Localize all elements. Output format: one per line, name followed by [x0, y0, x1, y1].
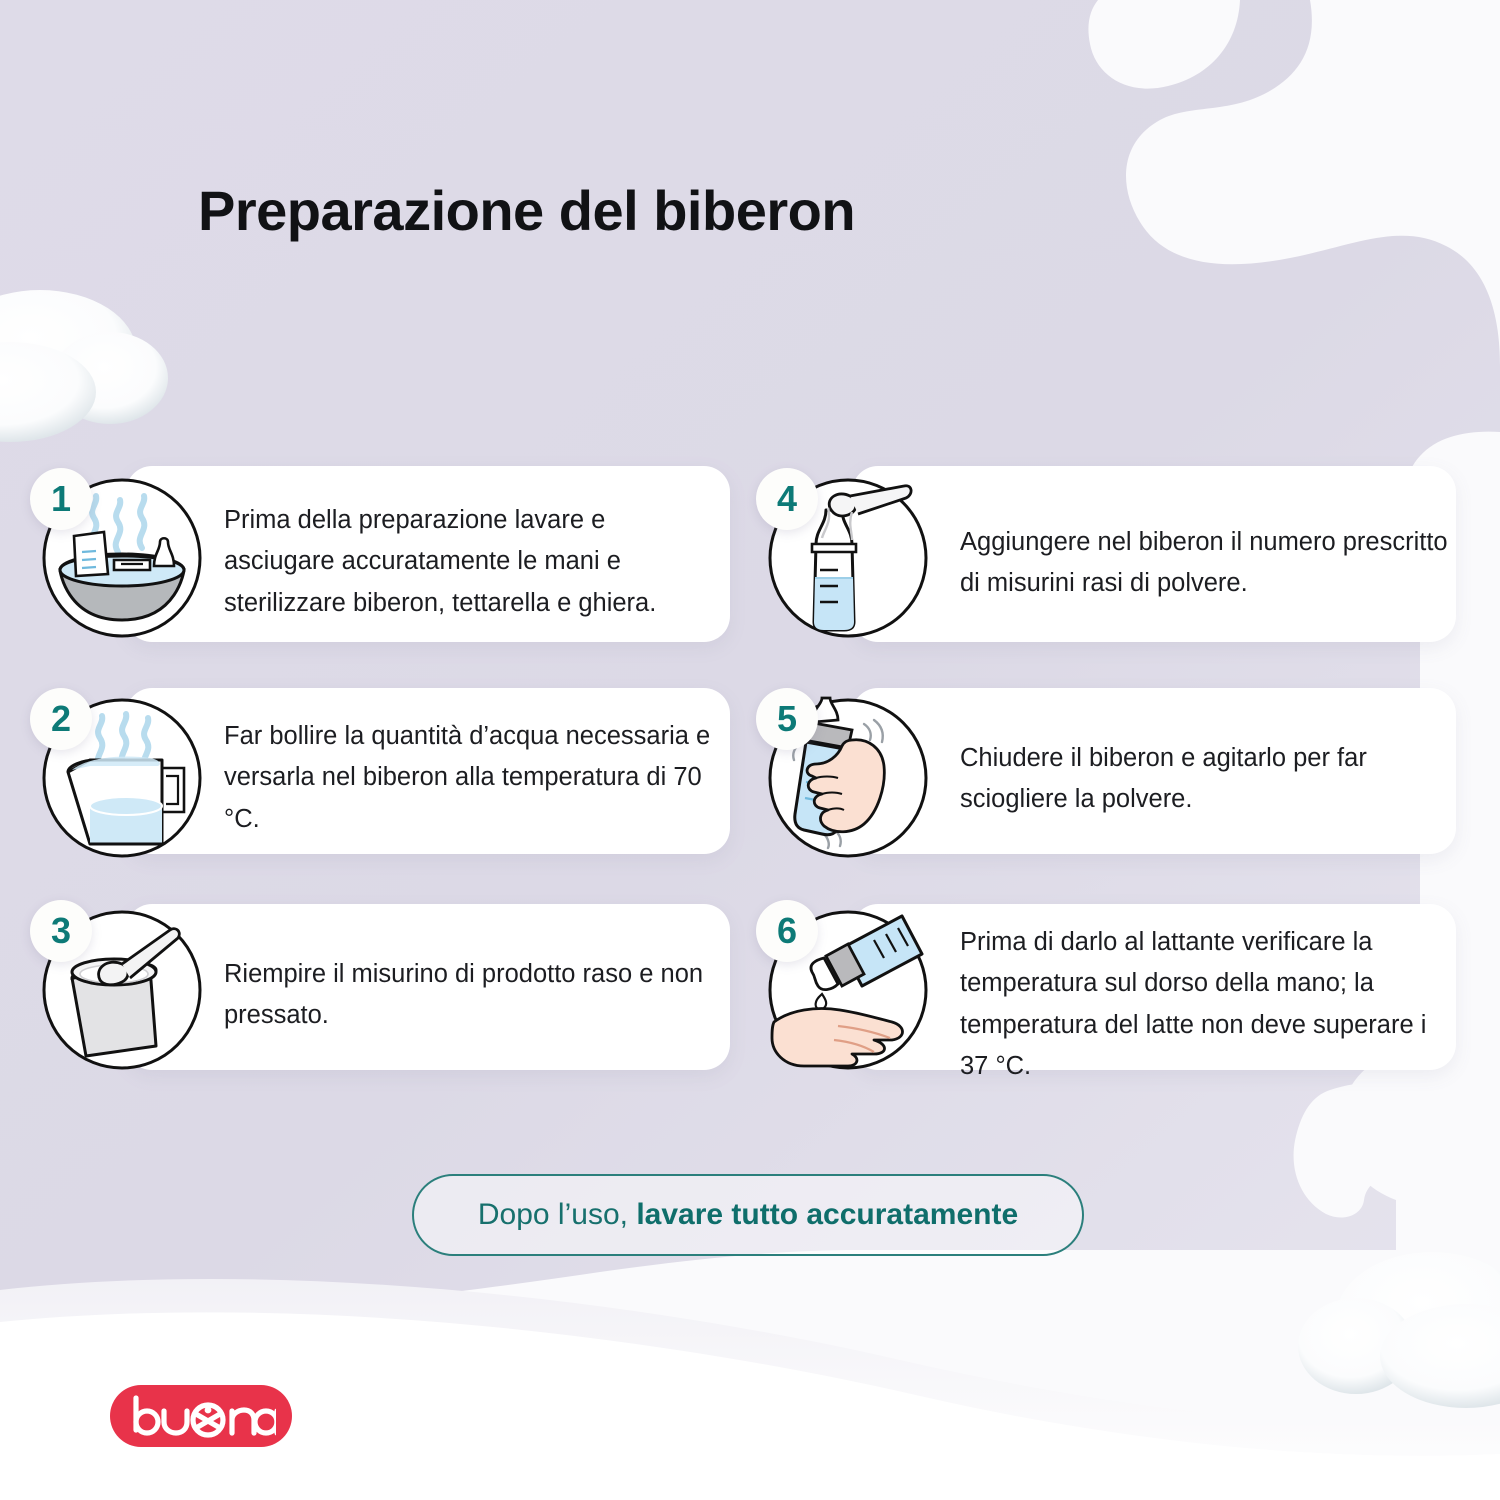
- note-prefix: Dopo l’uso,: [478, 1198, 628, 1232]
- page-title: Preparazione del biberon: [198, 178, 855, 243]
- step-badge-1: 1: [30, 468, 92, 530]
- step-badge-4: 4: [756, 468, 818, 530]
- step-badge-3: 3: [30, 900, 92, 962]
- step-text-4: Aggiungere nel biberon il numero prescri…: [960, 522, 1452, 605]
- step-text-1: Prima della preparazione lavare e asciug…: [224, 500, 716, 624]
- step-text-6: Prima di darlo al lattante verificare la…: [960, 922, 1456, 1087]
- step-text-5: Chiudere il biberon e agitarlo per far s…: [960, 738, 1452, 821]
- buona-logo: [110, 1385, 292, 1447]
- note-strong: lavare tutto accuratamente: [636, 1198, 1018, 1232]
- step-badge-2: 2: [30, 688, 92, 750]
- step-text-2: Far bollire la quantità d’acqua necessar…: [224, 716, 724, 840]
- step-badge-6: 6: [756, 900, 818, 962]
- buona-logo-mark: [126, 1392, 276, 1440]
- step-badge-5: 5: [756, 688, 818, 750]
- infographic-root: Preparazione del biberon: [0, 0, 1500, 1500]
- after-use-note: Dopo l’uso, lavare tutto accuratamente: [412, 1174, 1084, 1256]
- step-text-3: Riempire il misurino di prodotto raso e …: [224, 954, 720, 1037]
